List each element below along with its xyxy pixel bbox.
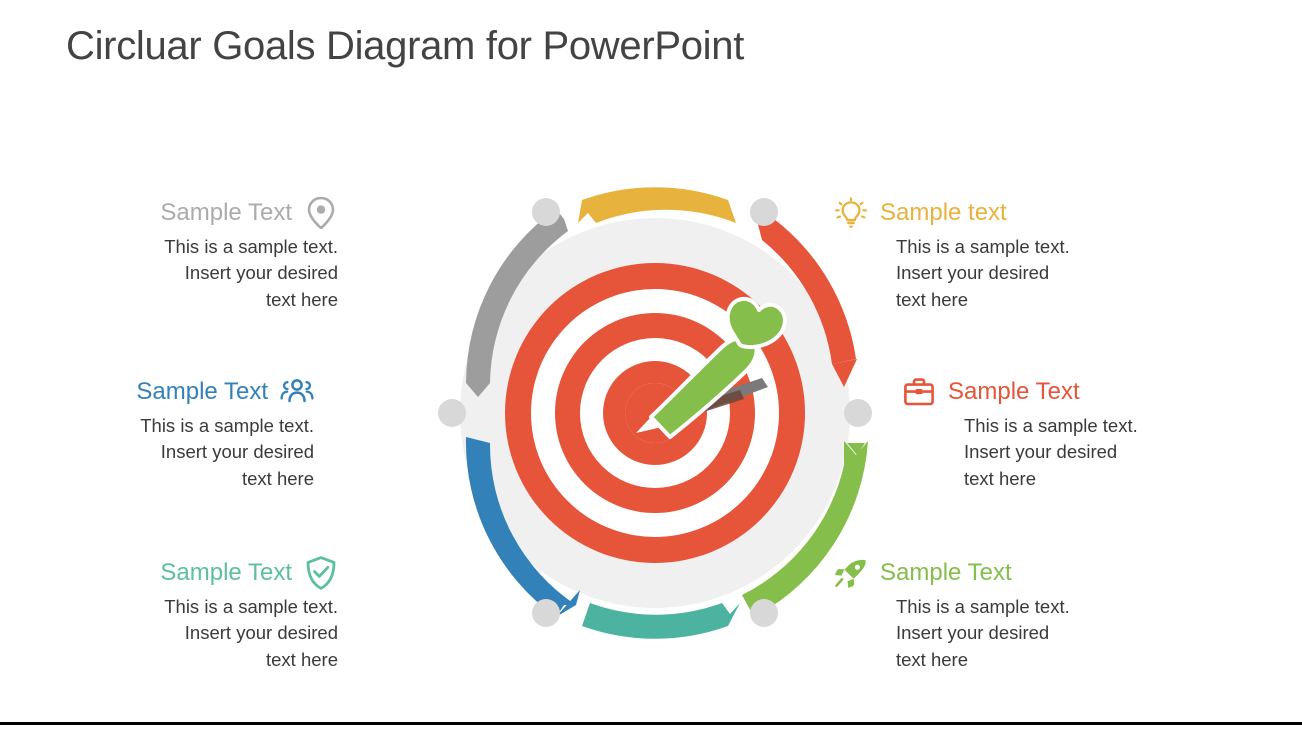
lightbulb-idea-icon [834,196,868,230]
callout-title: Sample Text [160,201,292,225]
briefcase-icon [902,375,936,409]
connector-dot [532,599,560,627]
callout-header: Sample text [834,196,1196,230]
footer-divider [0,722,1302,725]
callout-body: This is a sample text. Insert your desir… [38,234,338,313]
location-pin-icon [304,196,338,230]
connector-dot [844,399,872,427]
connector-dot [750,599,778,627]
rocket-icon [834,556,868,590]
circular-goals-diagram [410,165,900,655]
callout-title: Sample Text [948,380,1080,404]
callout-body: This is a sample text. Insert your desir… [964,413,1264,492]
segment-top[interactable] [578,187,736,223]
callout-body: This is a sample text. Insert your desir… [38,594,338,673]
callout-launch[interactable]: Sample Text This is a sample text. Inser… [896,556,1196,673]
slide-canvas: Circluar Goals Diagram for PowerPoint [0,0,1302,734]
callout-title: Sample Text [160,561,292,585]
callout-body: This is a sample text. Insert your desir… [896,234,1196,313]
callout-shield[interactable]: Sample Text This is a sample text. Inser… [38,556,338,673]
dart-flight [728,299,785,347]
callout-title: Sample Text [136,380,268,404]
callout-title: Sample text [880,201,1007,225]
callout-business[interactable]: Sample Text This is a sample text. Inser… [964,375,1264,492]
callout-location[interactable]: Sample Text This is a sample text. Inser… [38,196,338,313]
callout-title: Sample Text [880,561,1012,585]
callout-header: Sample Text [38,556,338,590]
callout-body: This is a sample text. Insert your desir… [896,594,1196,673]
callout-header: Sample Text [14,375,314,409]
callout-header: Sample Text [38,196,338,230]
segment-bottom[interactable] [582,603,740,639]
connector-dot [438,399,466,427]
connector-dot [532,198,560,226]
connector-dot [750,198,778,226]
callout-body: This is a sample text. Insert your desir… [14,413,314,492]
callout-idea[interactable]: Sample text This is a sample text. Inser… [896,196,1196,313]
callout-header: Sample Text [834,556,1196,590]
callout-header: Sample Text [902,375,1264,409]
page-title: Circluar Goals Diagram for PowerPoint [66,24,744,69]
shield-check-icon [304,556,338,590]
callout-people[interactable]: Sample Text This is a sample text. Inser… [22,375,322,492]
people-group-icon [280,375,314,409]
